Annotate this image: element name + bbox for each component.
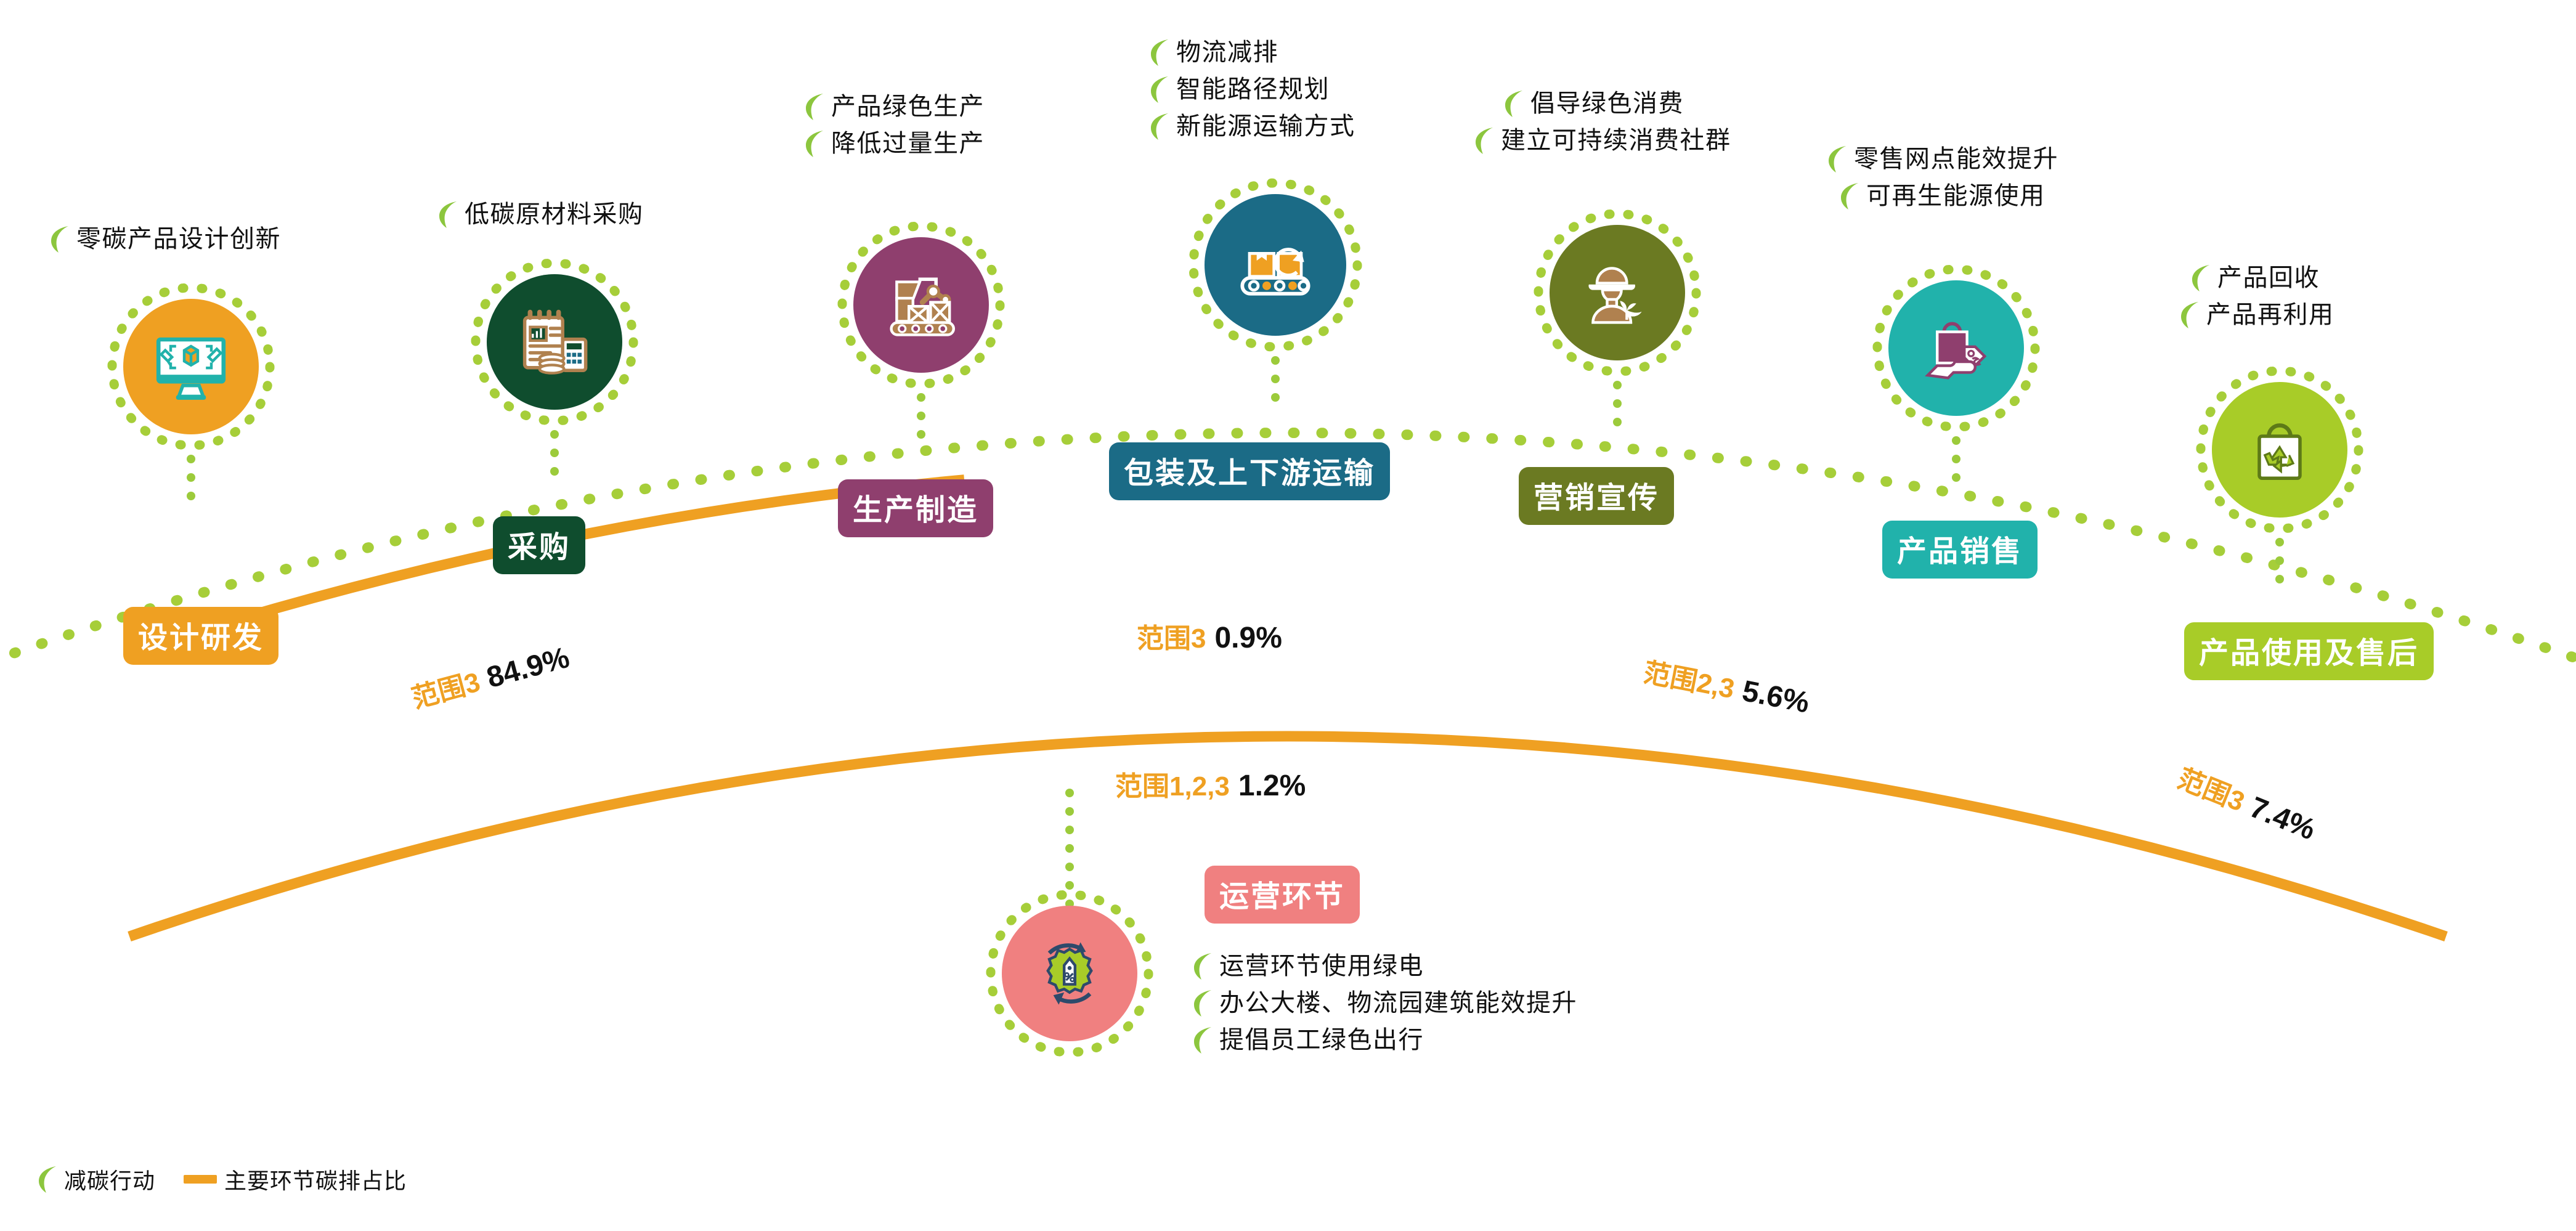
emission-scope: 范围3 — [1137, 624, 1206, 654]
leaf-icon — [1149, 38, 1170, 67]
connector-sales — [1952, 436, 1960, 492]
connector-manufacturing — [917, 393, 925, 449]
legend: 减碳行动 主要环节碳排占比 — [37, 1163, 435, 1195]
connector-packaging-transport — [1271, 356, 1280, 412]
emission-scope: 范围2,3 — [1641, 657, 1737, 705]
emission-value: 0.9% — [1214, 622, 1282, 654]
leaf-icon — [1827, 145, 1848, 173]
emission-value: 5.6% — [1739, 675, 1812, 720]
legend-item-actions: 减碳行动 — [37, 1163, 155, 1195]
action-label: 可再生能源使用 — [1866, 184, 2046, 208]
actions-manufacturing: 产品绿色生产 降低过量生产 — [804, 92, 985, 158]
action-label: 办公大楼、物流园建筑能效提升 — [1219, 991, 1577, 1015]
action-item: 提倡员工绿色出行 — [1192, 1026, 1577, 1054]
connector-marketing — [1613, 381, 1622, 436]
leaf-icon — [1149, 112, 1170, 140]
stage-label-use-aftersales[interactable]: 产品使用及售后 — [2184, 622, 2434, 680]
leaf-icon — [1474, 126, 1495, 155]
action-item: 物流减排 — [1149, 38, 1355, 67]
stage-label-marketing[interactable]: 营销宣传 — [1519, 467, 1674, 525]
action-item: 建立可持续消费社群 — [1474, 126, 1731, 155]
action-item: 降低过量生产 — [804, 129, 985, 158]
emission-scope: 范围3 — [2173, 763, 2249, 818]
action-label: 物流减排 — [1176, 40, 1278, 65]
emission-label-2: 范围30.9% — [1137, 616, 1282, 656]
leaf-icon — [37, 1165, 58, 1193]
stage-label-sales[interactable]: 产品销售 — [1882, 521, 2038, 579]
stage-label-packaging-transport[interactable]: 包装及上下游运输 — [1109, 442, 1390, 500]
notepad-calculator-coins-icon — [514, 301, 595, 383]
connector-design — [187, 455, 195, 510]
emission-scope: 范围3 — [408, 667, 483, 713]
leaf-icon — [1192, 989, 1213, 1017]
actions-procurement: 低碳原材料采购 — [437, 200, 644, 229]
leaf-icon — [2190, 264, 2211, 292]
leaf-icon — [437, 200, 458, 229]
action-item: 倡导绿色消费 — [1503, 89, 1731, 118]
emission-value: 84.9% — [484, 641, 573, 694]
actions-use-aftersales: 产品回收 产品再利用 — [2190, 264, 2334, 329]
leaf-icon — [804, 92, 825, 121]
action-item: 产品再利用 — [2179, 301, 2334, 329]
action-item: 可再生能源使用 — [1839, 182, 2058, 210]
emission-label-3: 范围2,35.6% — [1641, 650, 1813, 721]
actions-marketing: 倡导绿色消费 建立可持续消费社群 — [1503, 89, 1731, 155]
action-label: 零碳产品设计创新 — [76, 227, 281, 251]
emission-label-4: 范围37.4% — [2172, 757, 2322, 848]
boxes-conveyor-recycle-icon — [1232, 222, 1318, 308]
action-label: 低碳原材料采购 — [465, 202, 644, 227]
leaf-icon — [49, 225, 70, 253]
action-item: 智能路径规划 — [1149, 75, 1355, 104]
emission-scope: 范围1,2,3 — [1115, 771, 1230, 802]
stage-label-design[interactable]: 设计研发 — [123, 607, 278, 665]
action-item: 产品绿色生产 — [804, 92, 985, 121]
emission-label-5: 范围1,2,31.2% — [1115, 764, 1306, 803]
leaf-icon — [804, 129, 825, 158]
farmer-sprout-icon — [1577, 252, 1658, 333]
leaf-icon — [1503, 89, 1524, 118]
stage-icon-disc-manufacturing — [853, 237, 989, 373]
action-label: 降低过量生产 — [831, 131, 985, 156]
action-label: 智能路径规划 — [1176, 77, 1330, 102]
leaf-icon — [1192, 952, 1213, 980]
action-item: 零碳产品设计创新 — [49, 225, 281, 253]
stage-icon-disc-use-aftersales — [2212, 382, 2347, 518]
leaf-icon — [1192, 1026, 1213, 1054]
actions-sales: 零售网点能效提升 可再生能源使用 — [1827, 145, 2058, 210]
leaf-icon — [1149, 75, 1170, 104]
legend-label: 减碳行动 — [64, 1163, 155, 1195]
stage-icon-disc-operations — [1002, 906, 1137, 1041]
actions-design: 零碳产品设计创新 — [49, 225, 281, 253]
stage-icon-disc-sales — [1888, 280, 2024, 416]
actions-packaging-transport: 物流减排 智能路径规划 新能源运输方式 — [1149, 38, 1355, 140]
action-label: 运营环节使用绿电 — [1219, 954, 1424, 978]
connector-procurement — [550, 430, 559, 485]
action-label: 产品绿色生产 — [831, 94, 985, 119]
stage-icon-disc-marketing — [1550, 225, 1685, 360]
emission-value: 7.4% — [2245, 791, 2320, 847]
stage-label-manufacturing[interactable]: 生产制造 — [838, 479, 993, 537]
legend-item-emission-share: 主要环节碳排占比 — [184, 1163, 407, 1195]
action-item: 低碳原材料采购 — [437, 200, 644, 229]
action-item: 产品回收 — [2190, 264, 2334, 292]
stage-label-procurement[interactable]: 采购 — [493, 516, 585, 574]
action-item: 零售网点能效提升 — [1827, 145, 2058, 173]
connector-use-aftersales — [2275, 538, 2284, 593]
orange-line-icon — [184, 1175, 217, 1184]
actions-operations: 运营环节使用绿电 办公大楼、物流园建筑能效提升 提倡员工绿色出行 — [1192, 952, 1577, 1054]
leaf-icon — [1839, 182, 1860, 210]
action-item: 办公大楼、物流园建筑能效提升 — [1192, 989, 1577, 1017]
action-item: 新能源运输方式 — [1149, 112, 1355, 140]
monitor-3d-design-icon — [150, 326, 232, 407]
stage-icon-disc-procurement — [487, 274, 622, 410]
legend-label: 主要环节碳排占比 — [224, 1163, 407, 1195]
action-label: 产品再利用 — [2206, 303, 2334, 327]
emission-value: 1.2% — [1238, 770, 1306, 802]
stage-icon-disc-packaging-transport — [1205, 194, 1346, 336]
leaf-icon — [2179, 301, 2200, 329]
action-label: 零售网点能效提升 — [1854, 147, 2058, 171]
robot-arm-conveyor-icon — [880, 264, 962, 346]
shopping-bag-hand-price-tag-icon — [1916, 307, 1997, 389]
action-label: 产品回收 — [2217, 266, 2320, 290]
stage-label-operations[interactable]: 运营环节 — [1205, 866, 1360, 924]
action-item: 运营环节使用绿电 — [1192, 952, 1577, 980]
stage-icon-disc-design — [123, 299, 259, 434]
emission-label-1: 范围384.9% — [407, 636, 573, 716]
action-label: 建立可持续消费社群 — [1501, 128, 1731, 153]
infographic-canvas: 零碳产品设计创新 设计研发 — [0, 0, 2576, 1231]
action-label: 倡导绿色消费 — [1530, 91, 1684, 116]
action-label: 提倡员工绿色出行 — [1219, 1028, 1424, 1052]
recycle-bag-icon — [2239, 409, 2320, 490]
action-label: 新能源运输方式 — [1176, 114, 1355, 139]
gear-percent-cycle-icon — [1029, 933, 1110, 1014]
